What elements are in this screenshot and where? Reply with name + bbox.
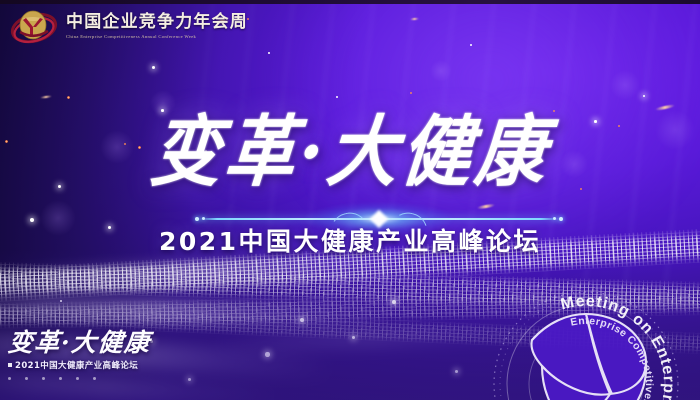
divider-dot <box>553 217 556 220</box>
brand-logo: 中国企业竞争力年会周 China Enterprise Competitiven… <box>10 6 248 46</box>
poster-canvas: 中国企业竞争力年会周 China Enterprise Competitiven… <box>0 0 700 400</box>
watermark-dot <box>25 377 28 380</box>
watermark-dot <box>42 377 45 380</box>
watermark-subtitle-row: 2021中国大健康产业高峰论坛 <box>8 359 151 371</box>
watermark-dot-row <box>8 377 151 380</box>
watermark: 变革·大健康 2021中国大健康产业高峰论坛 <box>8 330 151 380</box>
watermark-dot <box>8 377 11 380</box>
logo-english-name: China Enterprise Competitiveness Annual … <box>66 34 248 39</box>
hero-title-container: 变革·大健康 <box>0 118 700 187</box>
top-dark-band <box>0 0 700 4</box>
conference-badge: Meeting on Enterprise Competitiveness En… <box>486 284 686 400</box>
watermark-subtitle: 2021中国大健康产业高峰论坛 <box>15 359 138 371</box>
divider-dot <box>559 217 563 221</box>
divider-dot <box>202 217 205 220</box>
watermark-bullet-icon <box>8 363 12 367</box>
watermark-dot <box>59 377 62 380</box>
gold-globe-emblem-icon <box>10 6 58 46</box>
watermark-title: 变革·大健康 <box>7 330 152 356</box>
main-title: 变革·大健康 <box>148 115 553 190</box>
watermark-dot <box>76 377 79 380</box>
hero-subtitle: 2021中国大健康产业高峰论坛 <box>0 222 700 258</box>
divider-dot <box>195 217 199 221</box>
watermark-dot <box>93 377 96 380</box>
logo-chinese-name: 中国企业竞争力年会周 <box>66 13 248 32</box>
